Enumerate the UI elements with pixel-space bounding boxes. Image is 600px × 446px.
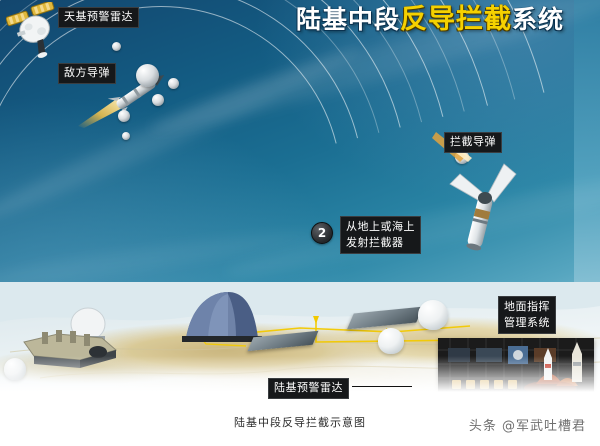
- radar-dome-icon: [378, 328, 404, 354]
- decoy-sphere: [112, 42, 121, 51]
- warhead-sphere: [136, 64, 159, 87]
- watermark: 头条 @军武吐槽君: [469, 415, 586, 434]
- label-step-two: 从地上或海上 发射拦截器: [340, 216, 421, 254]
- decoy-sphere: [118, 110, 130, 122]
- label-space-radar: 天基预警雷达: [58, 7, 139, 28]
- decoy-sphere: [122, 132, 130, 140]
- decoy-sphere: [152, 94, 164, 106]
- label-enemy-missile: 敌方导弹: [58, 63, 116, 84]
- label-ground-radar: 陆基预警雷达: [268, 378, 349, 399]
- label-interceptor-missile: 拦截导弹: [444, 132, 502, 153]
- label-leader-line: [352, 386, 412, 387]
- interceptor-missile-icon: [448, 160, 518, 240]
- title-part-2: 系统: [512, 5, 564, 34]
- title-part-1: 陆基中段: [296, 5, 400, 34]
- radar-dome-icon: [418, 300, 448, 330]
- label-command-system: 地面指挥 管理系统: [498, 296, 556, 334]
- title-part-highlight: 反导拦截: [400, 4, 512, 35]
- infographic-root: 陆基中段反导拦截示意图 头条 @军武吐槽君 陆基中段反导拦截系统 天基预警雷达 …: [0, 0, 600, 446]
- step-badge-2: 2: [311, 222, 333, 244]
- decoy-sphere: [168, 78, 179, 89]
- page-title: 陆基中段反导拦截系统: [296, 6, 564, 33]
